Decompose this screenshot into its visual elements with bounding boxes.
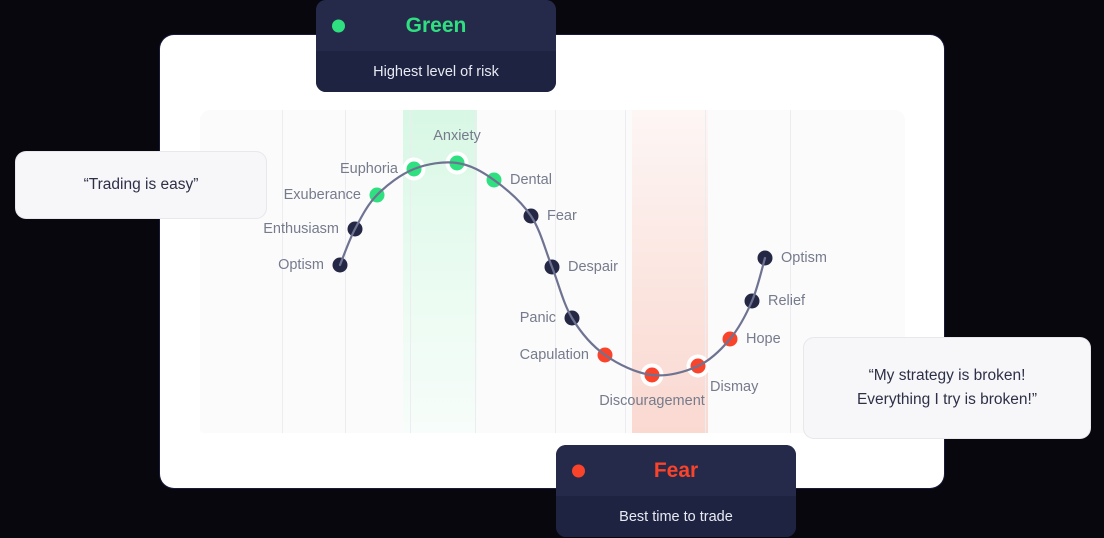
tooltip-fear[interactable]: Fear Best time to trade: [556, 445, 796, 537]
tooltip-fear-header: Fear: [556, 445, 796, 496]
green-dot-icon: [332, 19, 345, 32]
tooltip-fear-title: Fear: [654, 459, 698, 483]
callout-trading-is-easy[interactable]: “Trading is easy”: [16, 152, 266, 218]
tooltip-fear-subtitle: Best time to trade: [556, 496, 796, 537]
tooltip-green-header: Green: [316, 0, 556, 51]
callout-right-line2: Everything I try is broken!”: [857, 388, 1037, 412]
tooltip-green[interactable]: Green Highest level of risk: [316, 0, 556, 92]
callout-left-text: “Trading is easy”: [84, 173, 199, 197]
tooltip-green-title: Green: [406, 14, 467, 38]
red-dot-icon: [572, 464, 585, 477]
screenshot-root: OptismEnthusiasmExuberanceEuphoriaAnxiet…: [0, 0, 1104, 538]
tooltip-green-subtitle: Highest level of risk: [316, 51, 556, 92]
callout-right-line1: “My strategy is broken!: [869, 364, 1026, 388]
callout-strategy-broken[interactable]: “My strategy is broken! Everything I try…: [804, 338, 1090, 438]
